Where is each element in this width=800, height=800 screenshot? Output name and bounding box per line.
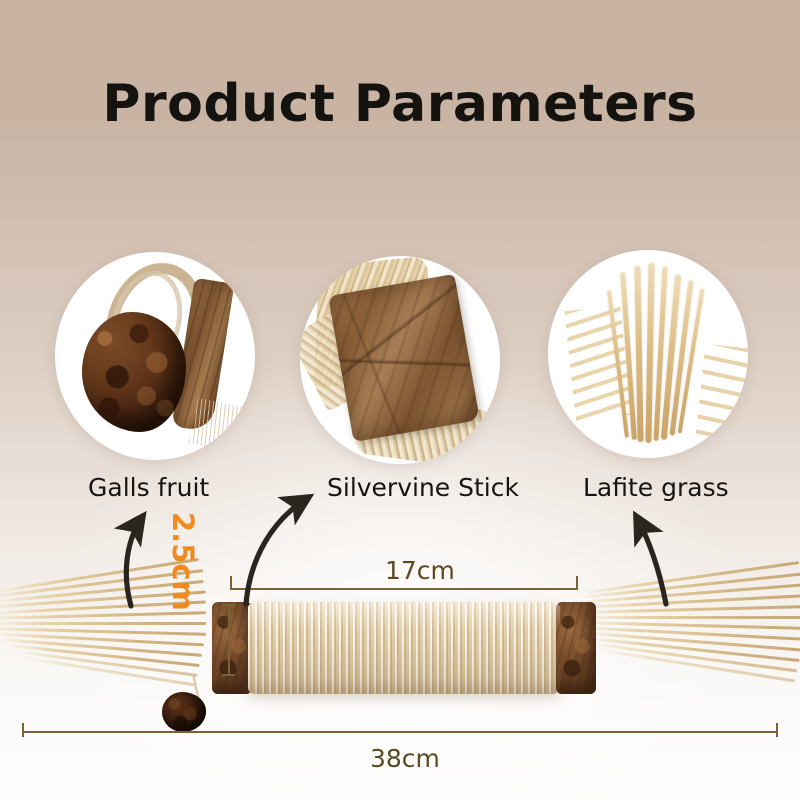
infographic-canvas: Product Parameters xyxy=(0,0,800,800)
dimension-label-38cm: 38cm xyxy=(370,744,440,773)
dimension-tick-right xyxy=(776,723,778,737)
page-title: Product Parameters xyxy=(0,74,800,134)
grass-strand xyxy=(645,263,654,443)
silvervine-stick-photo xyxy=(300,256,500,464)
bark-cap-right xyxy=(556,602,596,694)
galls-fruit-photo xyxy=(55,252,255,460)
lafite-grass-photo xyxy=(548,250,748,458)
dimension-line-horizontal xyxy=(230,588,578,590)
dimension-tick-bottom xyxy=(222,674,235,676)
grass-strands-right-shape xyxy=(695,344,748,448)
feature-label-lafite-grass: Lafite grass xyxy=(583,473,729,502)
hanging-gall-fruit xyxy=(162,692,206,732)
dimension-tick-top xyxy=(222,604,235,606)
feature-label-galls-fruit: Galls fruit xyxy=(88,473,209,502)
feature-circle-silvervine-stick xyxy=(300,256,500,464)
grass-strand xyxy=(634,266,643,442)
silvervine-wood-block-shape xyxy=(328,274,480,442)
dimension-line-horizontal xyxy=(22,731,778,733)
feature-circle-lafite-grass xyxy=(548,250,748,458)
tassel-right xyxy=(580,560,800,700)
rope-wrapped-body xyxy=(248,602,560,694)
dimension-tick-right xyxy=(576,576,578,590)
bark-cap-left xyxy=(212,602,252,694)
feature-label-silvervine-stick: Silvervine Stick xyxy=(327,473,519,502)
dimension-line-vertical xyxy=(228,604,230,676)
dimension-label-17cm: 17cm xyxy=(385,556,455,585)
dimension-tick-left xyxy=(22,723,24,737)
dimension-tick-left xyxy=(230,576,232,590)
gall-fruit-shape xyxy=(82,312,186,432)
dimension-label-2-5cm: 2.5cm xyxy=(166,512,200,611)
product-photo xyxy=(0,560,800,740)
feature-circle-galls-fruit xyxy=(55,252,255,460)
fiber-fray-shape xyxy=(189,398,244,453)
